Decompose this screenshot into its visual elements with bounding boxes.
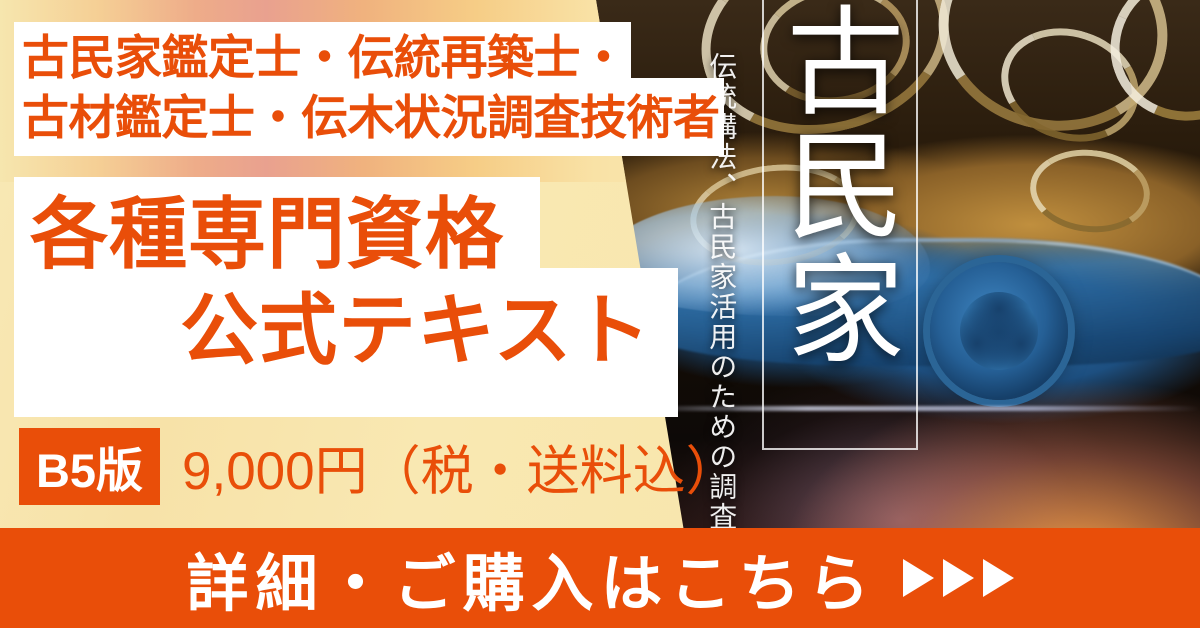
- cta-arrows: [903, 559, 1014, 597]
- subtitle-line-2: 公式テキスト: [180, 291, 652, 369]
- headline-line-2: 古材鑑定士・伝木状況調査技術者: [22, 88, 722, 148]
- book-cover-title: 古民家: [786, 0, 902, 450]
- price-text: 9,000円（税・送料込）: [182, 429, 739, 505]
- triangle-right-icon: [903, 559, 934, 597]
- headline-line-1: 古民家鑑定士・伝統再築士・: [22, 28, 722, 88]
- triangle-right-icon: [943, 559, 974, 597]
- cta-label: 詳細・ご購入はこちら: [186, 533, 876, 623]
- promo-banner: 古民家 伝統構法、古民家活用のための調査と再生の 古民家鑑定士・伝統再築士・ 古…: [0, 0, 1200, 628]
- carved-swirl-icon: [1026, 144, 1154, 238]
- format-badge: B5版: [19, 428, 160, 505]
- cta-button[interactable]: 詳細・ご購入はこちら: [0, 528, 1200, 628]
- subtitle-line-1: 各種専門資格: [30, 195, 504, 273]
- price-row: B5版 9,000円（税・送料込）: [19, 428, 739, 505]
- family-crest-icon: [930, 262, 1068, 400]
- triangle-right-icon: [983, 559, 1014, 597]
- page-title: 古民家鑑定士・伝統再築士・ 古材鑑定士・伝木状況調査技術者: [22, 28, 722, 148]
